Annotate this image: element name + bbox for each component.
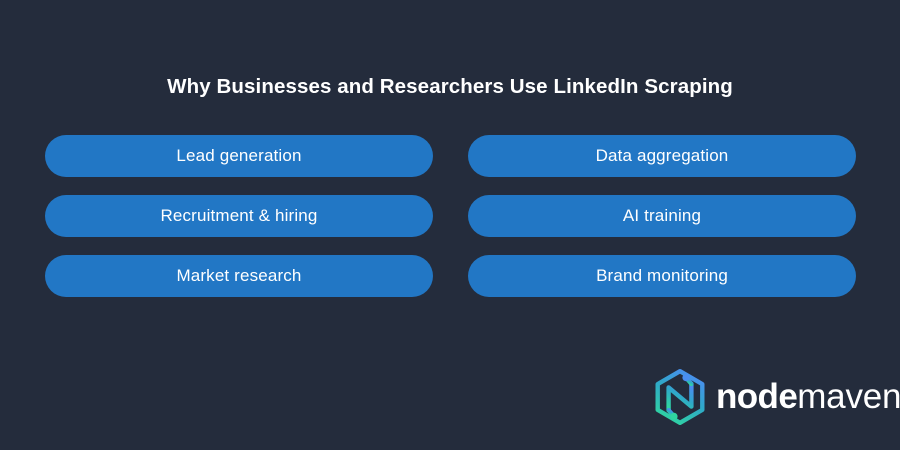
- logo-wordmark: nodemaven: [716, 378, 900, 416]
- infographic-canvas: Why Businesses and Researchers Use Linke…: [0, 0, 900, 450]
- pill-label: Market research: [176, 266, 301, 286]
- pill-brand-monitoring[interactable]: Brand monitoring: [468, 255, 856, 297]
- pill-label: Lead generation: [176, 146, 301, 166]
- nodemaven-logo: nodemaven: [652, 366, 880, 428]
- pill-ai-training[interactable]: AI training: [468, 195, 856, 237]
- pill-lead-generation[interactable]: Lead generation: [45, 135, 433, 177]
- nodemaven-hexagon-n-icon: [652, 368, 708, 426]
- logo-wordmark-light: maven: [797, 377, 900, 416]
- pill-label: AI training: [623, 206, 701, 226]
- pill-data-aggregation[interactable]: Data aggregation: [468, 135, 856, 177]
- pill-label: Data aggregation: [596, 146, 729, 166]
- benefit-pill-grid: Lead generation Data aggregation Recruit…: [45, 135, 856, 297]
- pill-recruitment-hiring[interactable]: Recruitment & hiring: [45, 195, 433, 237]
- pill-label: Recruitment & hiring: [160, 206, 317, 226]
- logo-wordmark-bold: node: [716, 377, 797, 416]
- pill-market-research[interactable]: Market research: [45, 255, 433, 297]
- page-title: Why Businesses and Researchers Use Linke…: [0, 74, 900, 100]
- pill-label: Brand monitoring: [596, 266, 728, 286]
